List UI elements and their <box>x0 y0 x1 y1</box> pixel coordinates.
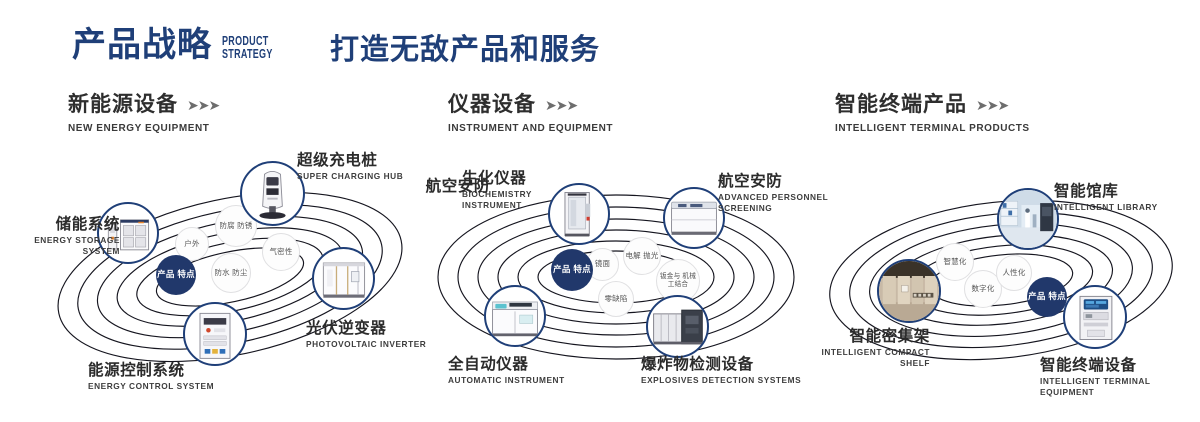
node-intelligent-terminal-equipment[interactable] <box>1063 285 1127 349</box>
node-pv-inverter[interactable] <box>312 247 375 310</box>
section-title-en-1: INSTRUMENT AND EQUIPMENT <box>448 123 613 134</box>
automatic-analyzer-icon <box>486 287 544 345</box>
biochemistry-scanner-icon <box>550 185 608 243</box>
section-title-cn-2: 智能终端产品 ➤➤➤ <box>835 94 1030 116</box>
chevron-right-icon: ➤➤➤ <box>545 98 577 113</box>
feature-bubble: 防水 防尘 <box>211 253 251 293</box>
label-automatic-instrument: 全自动仪器 AUTOMATIC INSTRUMENT <box>448 356 565 386</box>
section-title-en-0: NEW ENERGY EQUIPMENT <box>68 123 219 134</box>
section-title-cn-0: 新能源设备 ➤➤➤ <box>68 94 219 116</box>
label-explosives-detection: 爆炸物检测设备 EXPLOSIVES DETECTION SYSTEMS <box>641 356 801 386</box>
self-service-kiosk-icon <box>1065 287 1125 347</box>
pv-inverter-cabinet-icon <box>314 249 373 308</box>
node-intelligent-compact-shelf[interactable] <box>877 259 941 323</box>
node-super-charging-hub[interactable] <box>240 161 305 226</box>
screening-machine-icon <box>665 189 723 247</box>
label-pv-inverter: 光伏逆变器 PHOTOVOLTAIC INVERTER <box>306 320 426 350</box>
product-feature-badge: 产品 特点 <box>551 249 593 291</box>
node-explosives-detection[interactable] <box>646 295 709 358</box>
section-heading-instrument: 仪器设备 ➤➤➤ INSTRUMENT AND EQUIPMENT <box>448 94 613 134</box>
product-feature-badge: 产品 特点 <box>1027 277 1067 317</box>
feature-bubble: 电解 抛光 <box>623 237 661 275</box>
node-biochemistry-instrument[interactable] <box>548 183 610 245</box>
smart-library-room-icon <box>999 190 1057 248</box>
product-feature-badge: 产品 特点 <box>156 255 196 295</box>
label-aviation-security-left: 航空安防 <box>400 178 490 195</box>
compact-shelving-icon <box>879 261 939 321</box>
page-title-en: PRODUCT STRATEGY <box>222 35 273 60</box>
page-header: 产品战略 PRODUCT STRATEGY <box>72 28 292 62</box>
feature-bubble: 人性化 <box>996 255 1032 291</box>
label-intelligent-compact-shelf: 智能密集架 INTELLIGENT COMPACT SHELF <box>800 328 930 369</box>
page-slogan: 打造无敌产品和服务 <box>330 36 600 65</box>
page-title-cn: 产品战略 <box>72 28 212 62</box>
control-cabinet-icon <box>185 304 245 364</box>
feature-bubble: 气密性 <box>262 233 300 271</box>
label-super-charging-hub: 超级充电桩 SUPER CHARGING HUB <box>297 152 403 182</box>
label-intelligent-terminal-equipment: 智能终端设备 INTELLIGENT TERMINAL EQUIPMENT <box>1040 357 1200 398</box>
explosive-detector-icon <box>648 297 707 356</box>
chevron-right-icon: ➤➤➤ <box>187 98 219 113</box>
node-automatic-instrument[interactable] <box>484 285 546 347</box>
node-advanced-personnel-screening[interactable] <box>663 187 725 249</box>
section-heading-intelligent: 智能终端产品 ➤➤➤ INTELLIGENT TERMINAL PRODUCTS <box>835 94 1030 134</box>
section-label-2: 智能终端产品 <box>835 94 967 116</box>
charging-pile-icon <box>242 163 303 224</box>
section-label-0: 新能源设备 <box>68 94 178 116</box>
product-strategy-infographic: 产品战略 PRODUCT STRATEGY 打造无敌产品和服务 新能源设备 ➤➤… <box>0 0 1200 422</box>
label-energy-control-system: 能源控制系统 ENERGY CONTROL SYSTEM <box>88 362 214 392</box>
feature-bubble: 零缺陷 <box>598 281 634 317</box>
node-energy-control-system[interactable] <box>183 302 247 366</box>
section-heading-new-energy: 新能源设备 ➤➤➤ NEW ENERGY EQUIPMENT <box>68 94 219 134</box>
node-intelligent-library[interactable] <box>997 188 1059 250</box>
section-title-cn-1: 仪器设备 ➤➤➤ <box>448 94 613 116</box>
label-intelligent-library: 智能馆库 INTELLIGENT LIBRARY <box>1054 183 1158 213</box>
section-label-1: 仪器设备 <box>448 94 536 116</box>
section-title-en-2: INTELLIGENT TERMINAL PRODUCTS <box>835 123 1030 134</box>
chevron-right-icon: ➤➤➤ <box>976 98 1008 113</box>
label-energy-storage: 储能系统 ENERGY STORAGE SYSTEM <box>0 216 120 257</box>
